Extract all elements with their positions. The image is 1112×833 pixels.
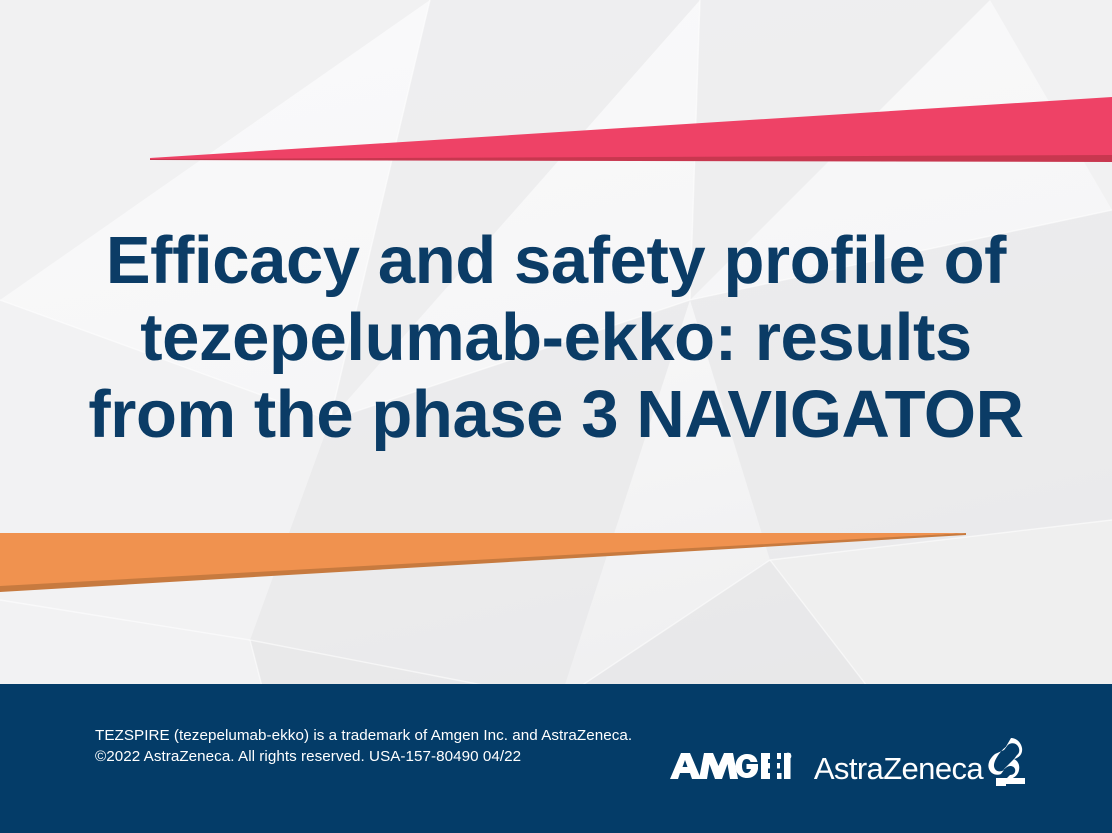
orange-accent-wedge	[0, 500, 1112, 620]
amgen-logo: R	[670, 751, 792, 785]
astrazeneca-swirl-icon	[981, 736, 1027, 788]
astrazeneca-logo: AstraZeneca	[814, 748, 1027, 788]
title-line-2: tezepelumab-ekko: results	[40, 299, 1072, 376]
title-line-3: from the phase 3 NAVIGATOR	[40, 376, 1072, 453]
footer-legal-text: TEZSPIRE (tezepelumab-ekko) is a tradema…	[95, 725, 632, 767]
trademark-line: TEZSPIRE (tezepelumab-ekko) is a tradema…	[95, 725, 632, 746]
slide-title: Efficacy and safety profile of tezepelum…	[0, 222, 1112, 453]
title-line-1: Efficacy and safety profile of	[40, 222, 1072, 299]
pink-wedge-fill	[150, 97, 1112, 159]
footer-logos: R AstraZeneca	[670, 748, 1027, 788]
astrazeneca-wordmark: AstraZeneca	[814, 753, 983, 784]
pink-accent-wedge	[0, 0, 1112, 200]
title-slide: Efficacy and safety profile of tezepelum…	[0, 0, 1112, 833]
copyright-line: ©2022 AstraZeneca. All rights reserved. …	[95, 746, 632, 767]
